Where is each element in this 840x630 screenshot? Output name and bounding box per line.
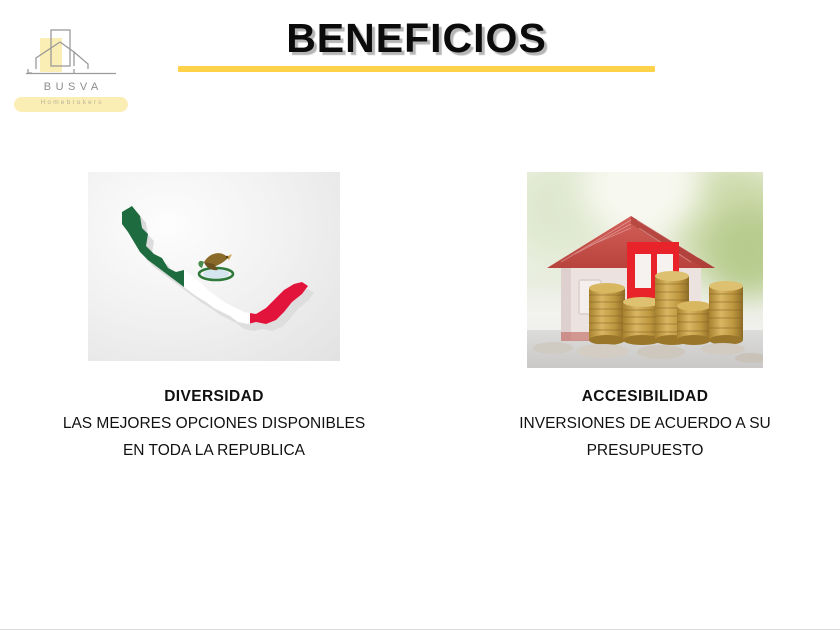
benefit-line-2: EN TODA LA REPUBLICA bbox=[26, 437, 402, 464]
mexico-map-graphic bbox=[88, 172, 340, 361]
benefit-line-1: LAS MEJORES OPCIONES DISPONIBLES bbox=[26, 410, 402, 437]
building-outline-icon bbox=[14, 24, 128, 80]
house-and-coins-image bbox=[527, 172, 763, 368]
benefit-line-1: INVERSIONES DE ACUERDO A SU bbox=[485, 410, 805, 437]
benefit-line-2: PRESUPUESTO bbox=[485, 437, 805, 464]
mexico-emblem bbox=[198, 253, 233, 280]
page-title: BENEFICIOS bbox=[178, 14, 655, 62]
benefit-caption-accesibilidad: ACCESIBILIDAD INVERSIONES DE ACUERDO A S… bbox=[485, 383, 805, 464]
benefit-card-diversidad: DIVERSIDAD LAS MEJORES OPCIONES DISPONIB… bbox=[88, 172, 340, 361]
mexico-map-flag-image bbox=[88, 172, 340, 361]
logo-name: BUSVA bbox=[14, 81, 128, 93]
benefit-card-accesibilidad: ACCESIBILIDAD INVERSIONES DE ACUERDO A S… bbox=[527, 172, 763, 368]
logo-busva: BUSVA Homebrokers bbox=[14, 24, 128, 110]
house-with-coins-graphic bbox=[527, 172, 763, 368]
slide-beneficios: BUSVA Homebrokers BENEFICIOS bbox=[0, 0, 840, 630]
title-underline-rule bbox=[178, 66, 655, 72]
benefit-title: ACCESIBILIDAD bbox=[485, 383, 805, 410]
benefit-caption-diversidad: DIVERSIDAD LAS MEJORES OPCIONES DISPONIB… bbox=[26, 383, 402, 464]
logo-tagline: Homebrokers bbox=[14, 99, 128, 106]
benefit-title: DIVERSIDAD bbox=[26, 383, 402, 410]
